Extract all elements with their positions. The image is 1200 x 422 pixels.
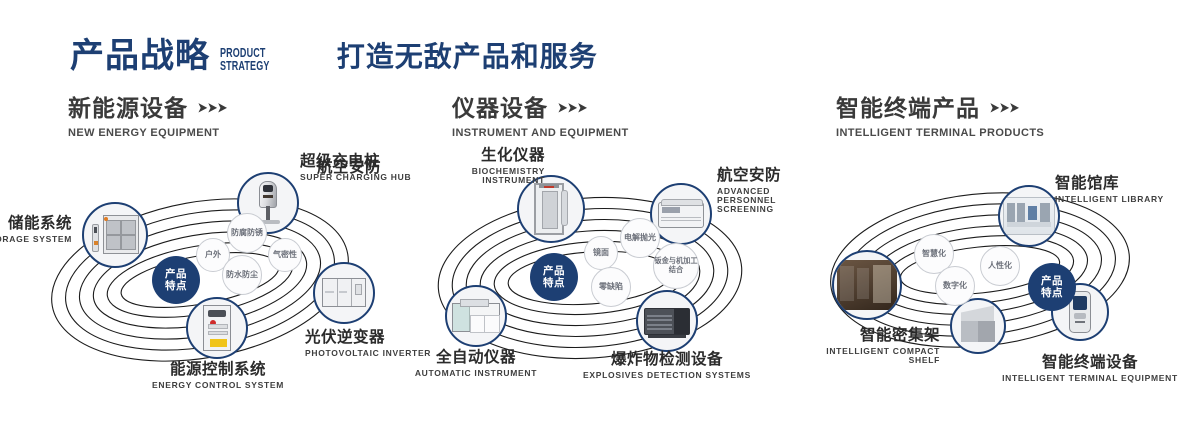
node-label-en: BIOCHEMISTRY INSTRUMENT [435,167,545,185]
node-automatic-instrument[interactable] [445,285,507,347]
core-badge-line1: 产品 [543,265,565,277]
node-intelligent-library[interactable] [998,185,1060,247]
explosives-detector-icon [638,292,696,350]
node-energy-storage-system[interactable] [82,202,148,268]
node-label-en: INTELLIGENT TERMINAL EQUIPMENT [980,374,1200,383]
node-label-en: INTELLIGENT COMPACT SHELF [820,347,940,365]
page-title-cn: 产品战略 [70,38,210,74]
node-label-automatic-instrument: 全自动仪器 AUTOMATIC INSTRUMENT [386,350,566,378]
library-room-icon [1000,187,1058,245]
node-biochemistry-instrument[interactable] [517,175,585,243]
node-smart-cube[interactable] [950,298,1006,354]
feature-bubble: 钣金与机加工结合 [653,243,699,289]
chevron-right-icon: ➤➤➤ [557,99,587,117]
energy-control-rack-icon [188,299,246,357]
feature-bubble: 镜面 [584,236,618,270]
core-badge-product-features: 产品 特点 [530,253,578,301]
node-explosives-detection-systems[interactable] [636,290,698,352]
feature-bubble: 零缺陷 [591,267,631,307]
node-energy-control-system[interactable] [186,297,248,359]
node-label-cn: 智能终端设备 [980,355,1200,371]
node-label-cn: 能源控制系统 [98,362,338,378]
node-label-cn: 生化仪器 [355,148,545,164]
automatic-instrument-icon [447,287,505,345]
section-heading-en: INSTRUMENT AND EQUIPMENT [452,127,629,139]
compact-shelf-room-icon [834,252,900,318]
node-label-cn: 航空安防 [317,160,381,176]
node-label-energy-control-system: 能源控制系统 ENERGY CONTROL SYSTEM [98,362,338,390]
node-label-intelligent-library: 智能馆库 INTELLIGENT LIBRARY [1055,176,1164,204]
node-photovoltaic-inverter[interactable] [313,262,375,324]
page-title-en-line2: STRATEGY [220,60,269,73]
core-badge-product-features: 产品 特点 [152,256,200,304]
page-title-en: PRODUCT STRATEGY [220,47,269,72]
node-intelligent-compact-shelf[interactable] [832,250,902,320]
section-heading-en: NEW ENERGY EQUIPMENT [68,127,227,139]
feature-bubble: 人性化 [980,246,1020,286]
section-heading-cn: 智能终端产品 [836,95,980,121]
photovoltaic-inverter-icon [315,264,373,322]
product-strategy-infographic: 产品战略 PRODUCT STRATEGY 打造无敌产品和服务 新能源设备 ➤➤… [0,0,1200,422]
diagram-panel-intelligent-terminal: 智能馆库 INTELLIGENT LIBRARY 智能密集架 INTELLIGE… [790,150,1190,400]
energy-storage-cabinet-icon [84,204,146,266]
node-label-cn: 爆炸物检测设备 [577,352,757,368]
screening-machine-icon [652,185,710,243]
section-heading-cn: 仪器设备 [452,95,548,121]
node-label-cn: 智能密集架 [770,328,940,344]
node-label-energy-storage-system: 储能系统 ENERGY STORAGE SYSTEM [0,216,72,244]
node-label-en: INTELLIGENT LIBRARY [1055,195,1164,204]
page-header: 产品战略 PRODUCT STRATEGY 打造无敌产品和服务 [70,28,598,74]
feature-bubble: 数字化 [935,266,975,306]
node-label-aviation-security-left: 航空安防 [317,160,381,176]
feature-bubble: 电解抛光 [620,218,660,258]
core-badge-product-features: 产品 特点 [1028,263,1076,311]
diagram-panel-instrument: 生化仪器 BIOCHEMISTRY INSTRUMENT 航空安防 航空安防 A… [395,150,795,400]
diagram-panel-new-energy: 储能系统 ENERGY STORAGE SYSTEM 超级充电桩 SUPER C… [0,150,400,400]
biochemistry-gate-icon [519,177,583,241]
core-badge-line2: 特点 [1041,287,1063,299]
feature-bubble: 防腐防锈 [227,213,267,253]
section-heading-new-energy: 新能源设备 ➤➤➤ NEW ENERGY EQUIPMENT [68,95,227,139]
node-label-en: ENERGY CONTROL SYSTEM [98,381,338,390]
node-label-cn: 全自动仪器 [386,350,566,366]
core-badge-line1: 产品 [165,268,187,280]
section-heading-intelligent-terminal: 智能终端产品 ➤➤➤ INTELLIGENT TERMINAL PRODUCTS [836,95,1044,139]
page-title-en-line1: PRODUCT [220,47,269,60]
core-badge-line2: 特点 [165,280,187,292]
node-label-en: ENERGY STORAGE SYSTEM [0,235,72,244]
chevron-right-icon: ➤➤➤ [989,99,1019,117]
core-badge-line2: 特点 [543,277,565,289]
node-label-intelligent-terminal-equipment: 智能终端设备 INTELLIGENT TERMINAL EQUIPMENT [980,355,1200,383]
core-badge-line1: 产品 [1041,275,1063,287]
node-label-en: AUTOMATIC INSTRUMENT [386,369,566,378]
smart-cube-icon [952,300,1004,352]
node-label-en: EXPLOSIVES DETECTION SYSTEMS [577,371,757,380]
feature-bubble: 气密性 [268,238,302,272]
node-label-explosives-detection-systems: 爆炸物检测设备 EXPLOSIVES DETECTION SYSTEMS [577,352,757,380]
section-heading-en: INTELLIGENT TERMINAL PRODUCTS [836,127,1044,139]
feature-bubble: 防水防尘 [222,255,262,295]
section-heading-instrument: 仪器设备 ➤➤➤ INSTRUMENT AND EQUIPMENT [452,95,629,139]
page-slogan: 打造无敌产品和服务 [337,40,598,74]
chevron-right-icon: ➤➤➤ [197,99,227,117]
node-label-cn: 储能系统 [0,216,72,232]
node-label-biochemistry-instrument: 生化仪器 BIOCHEMISTRY INSTRUMENT [355,148,545,185]
node-label-cn: 智能馆库 [1055,176,1164,192]
node-label-intelligent-compact-shelf: 智能密集架 INTELLIGENT COMPACT SHELF [770,328,940,365]
section-heading-cn: 新能源设备 [68,95,188,121]
